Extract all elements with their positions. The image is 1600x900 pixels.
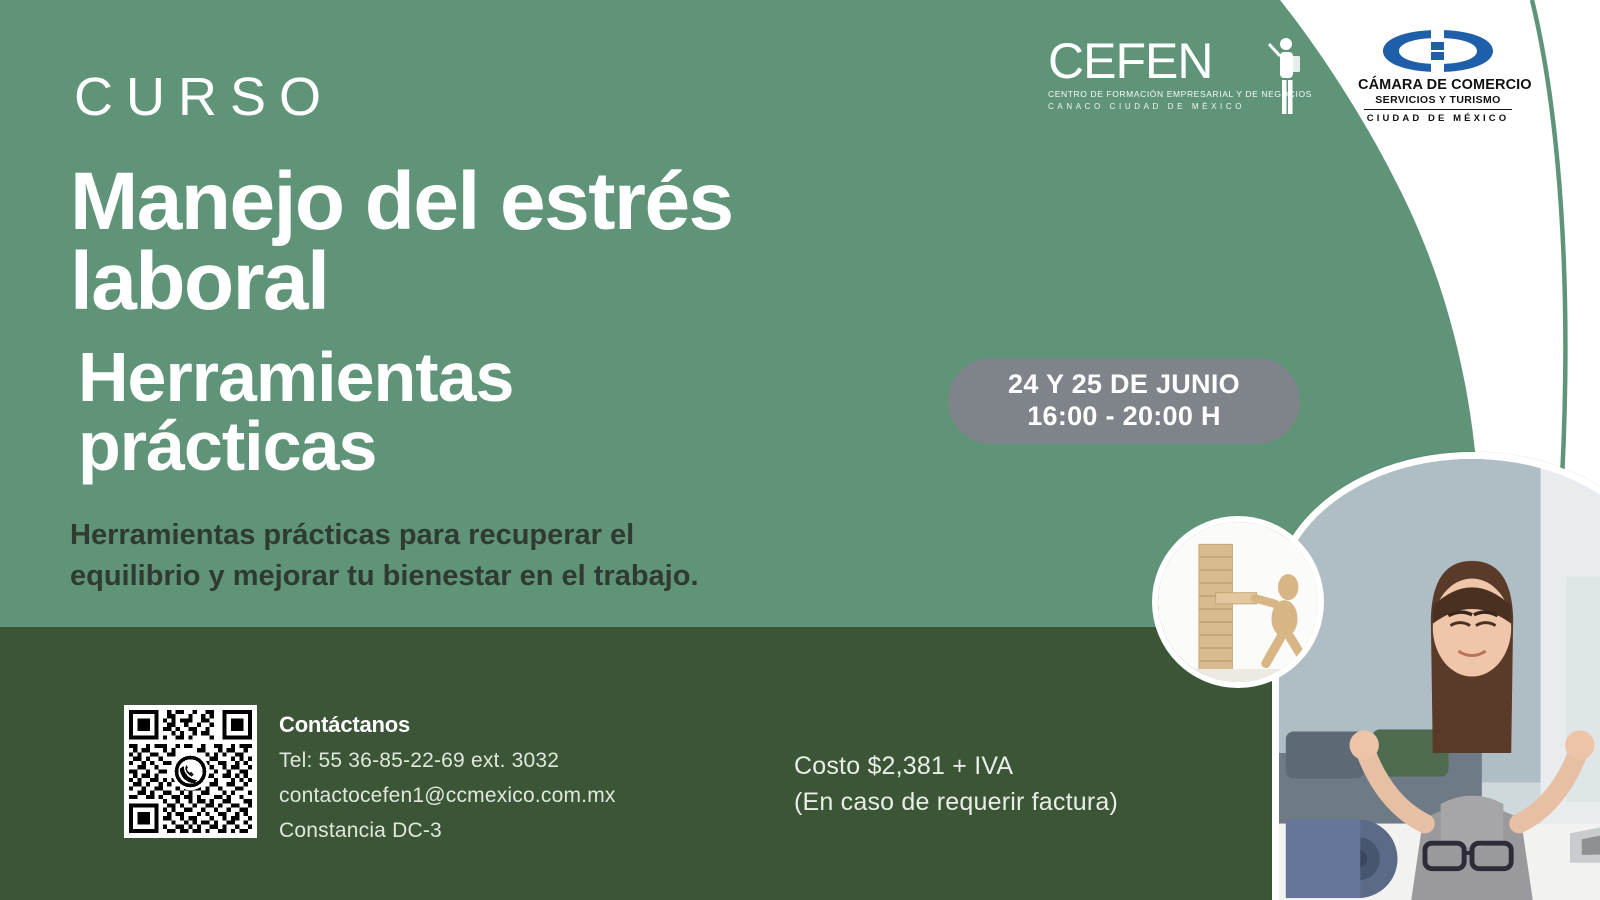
title-line-1: Manejo del estrés [70,162,970,242]
cefen-affiliation: CANACO CIUDAD DE MÉXICO [1048,102,1298,111]
camara-de-comercio-logo: CÁMARA DE COMERCIO SERVICIOS Y TURISMO C… [1358,28,1518,124]
woman-meditating-illustration [1279,459,1600,900]
whatsapp-qr-code[interactable] [124,705,257,838]
cefen-tagline: CENTRO DE FORMACIÓN EMPRESARIAL Y DE NEG… [1048,89,1298,99]
page-subtitle: Herramientas prácticas [78,343,978,480]
badge-time: 16:00 - 20:00 H [1027,401,1221,433]
date-badge: 24 Y 25 DE JUNIO 16:00 - 20:00 H [948,358,1300,444]
tagline: Herramientas prácticas para recuperar el… [70,515,900,597]
canaco-divider [1364,109,1512,110]
canaco-line-2: SERVICIOS Y TURISMO [1358,94,1518,106]
canaco-line-1: CÁMARA DE COMERCIO [1358,77,1518,93]
badge-dates: 24 Y 25 DE JUNIO [1008,369,1240,401]
kicker-curso: CURSO [74,70,334,124]
canaco-c-emblem-icon [1379,28,1497,74]
instructor-pictogram-icon [1266,34,1302,120]
cefen-logo: CEFEN CENTRO DE FORMACIÓN EMPRESARIAL Y … [1048,36,1298,122]
price-block: Costo $2,381 + IVA (En caso de requerir … [794,748,1118,821]
course-flyer: CEFEN CENTRO DE FORMACIÓN EMPRESARIAL Y … [0,0,1600,900]
jenga-mannequin-illustration [1158,522,1318,682]
secondary-photo [1152,516,1324,688]
price-amount: Costo $2,381 + IVA [794,748,1118,784]
title-line-2: laboral [70,242,970,322]
contact-certificate: Constancia DC-3 [279,819,616,843]
contact-heading: Contáctanos [279,712,616,738]
canaco-line-3: CIUDAD DE MÉXICO [1358,113,1518,124]
main-photo [1272,452,1600,900]
qr-code-icon [129,710,252,833]
page-title: Manejo del estrés laboral [70,162,970,321]
cefen-wordmark: CEFEN [1048,36,1298,86]
tagline-line-2: equilibrio y mejorar tu bienestar en el … [70,556,900,597]
subtitle-line-2: prácticas [78,412,978,481]
contact-phone[interactable]: Tel: 55 36-85-22-69 ext. 3032 [279,749,616,773]
subtitle-line-1: Herramientas [78,343,978,412]
contact-email[interactable]: contactocefen1@ccmexico.com.mx [279,784,616,808]
contact-block: Contáctanos Tel: 55 36-85-22-69 ext. 303… [279,712,616,854]
price-note: (En caso de requerir factura) [794,784,1118,820]
tagline-line-1: Herramientas prácticas para recuperar el [70,515,900,556]
